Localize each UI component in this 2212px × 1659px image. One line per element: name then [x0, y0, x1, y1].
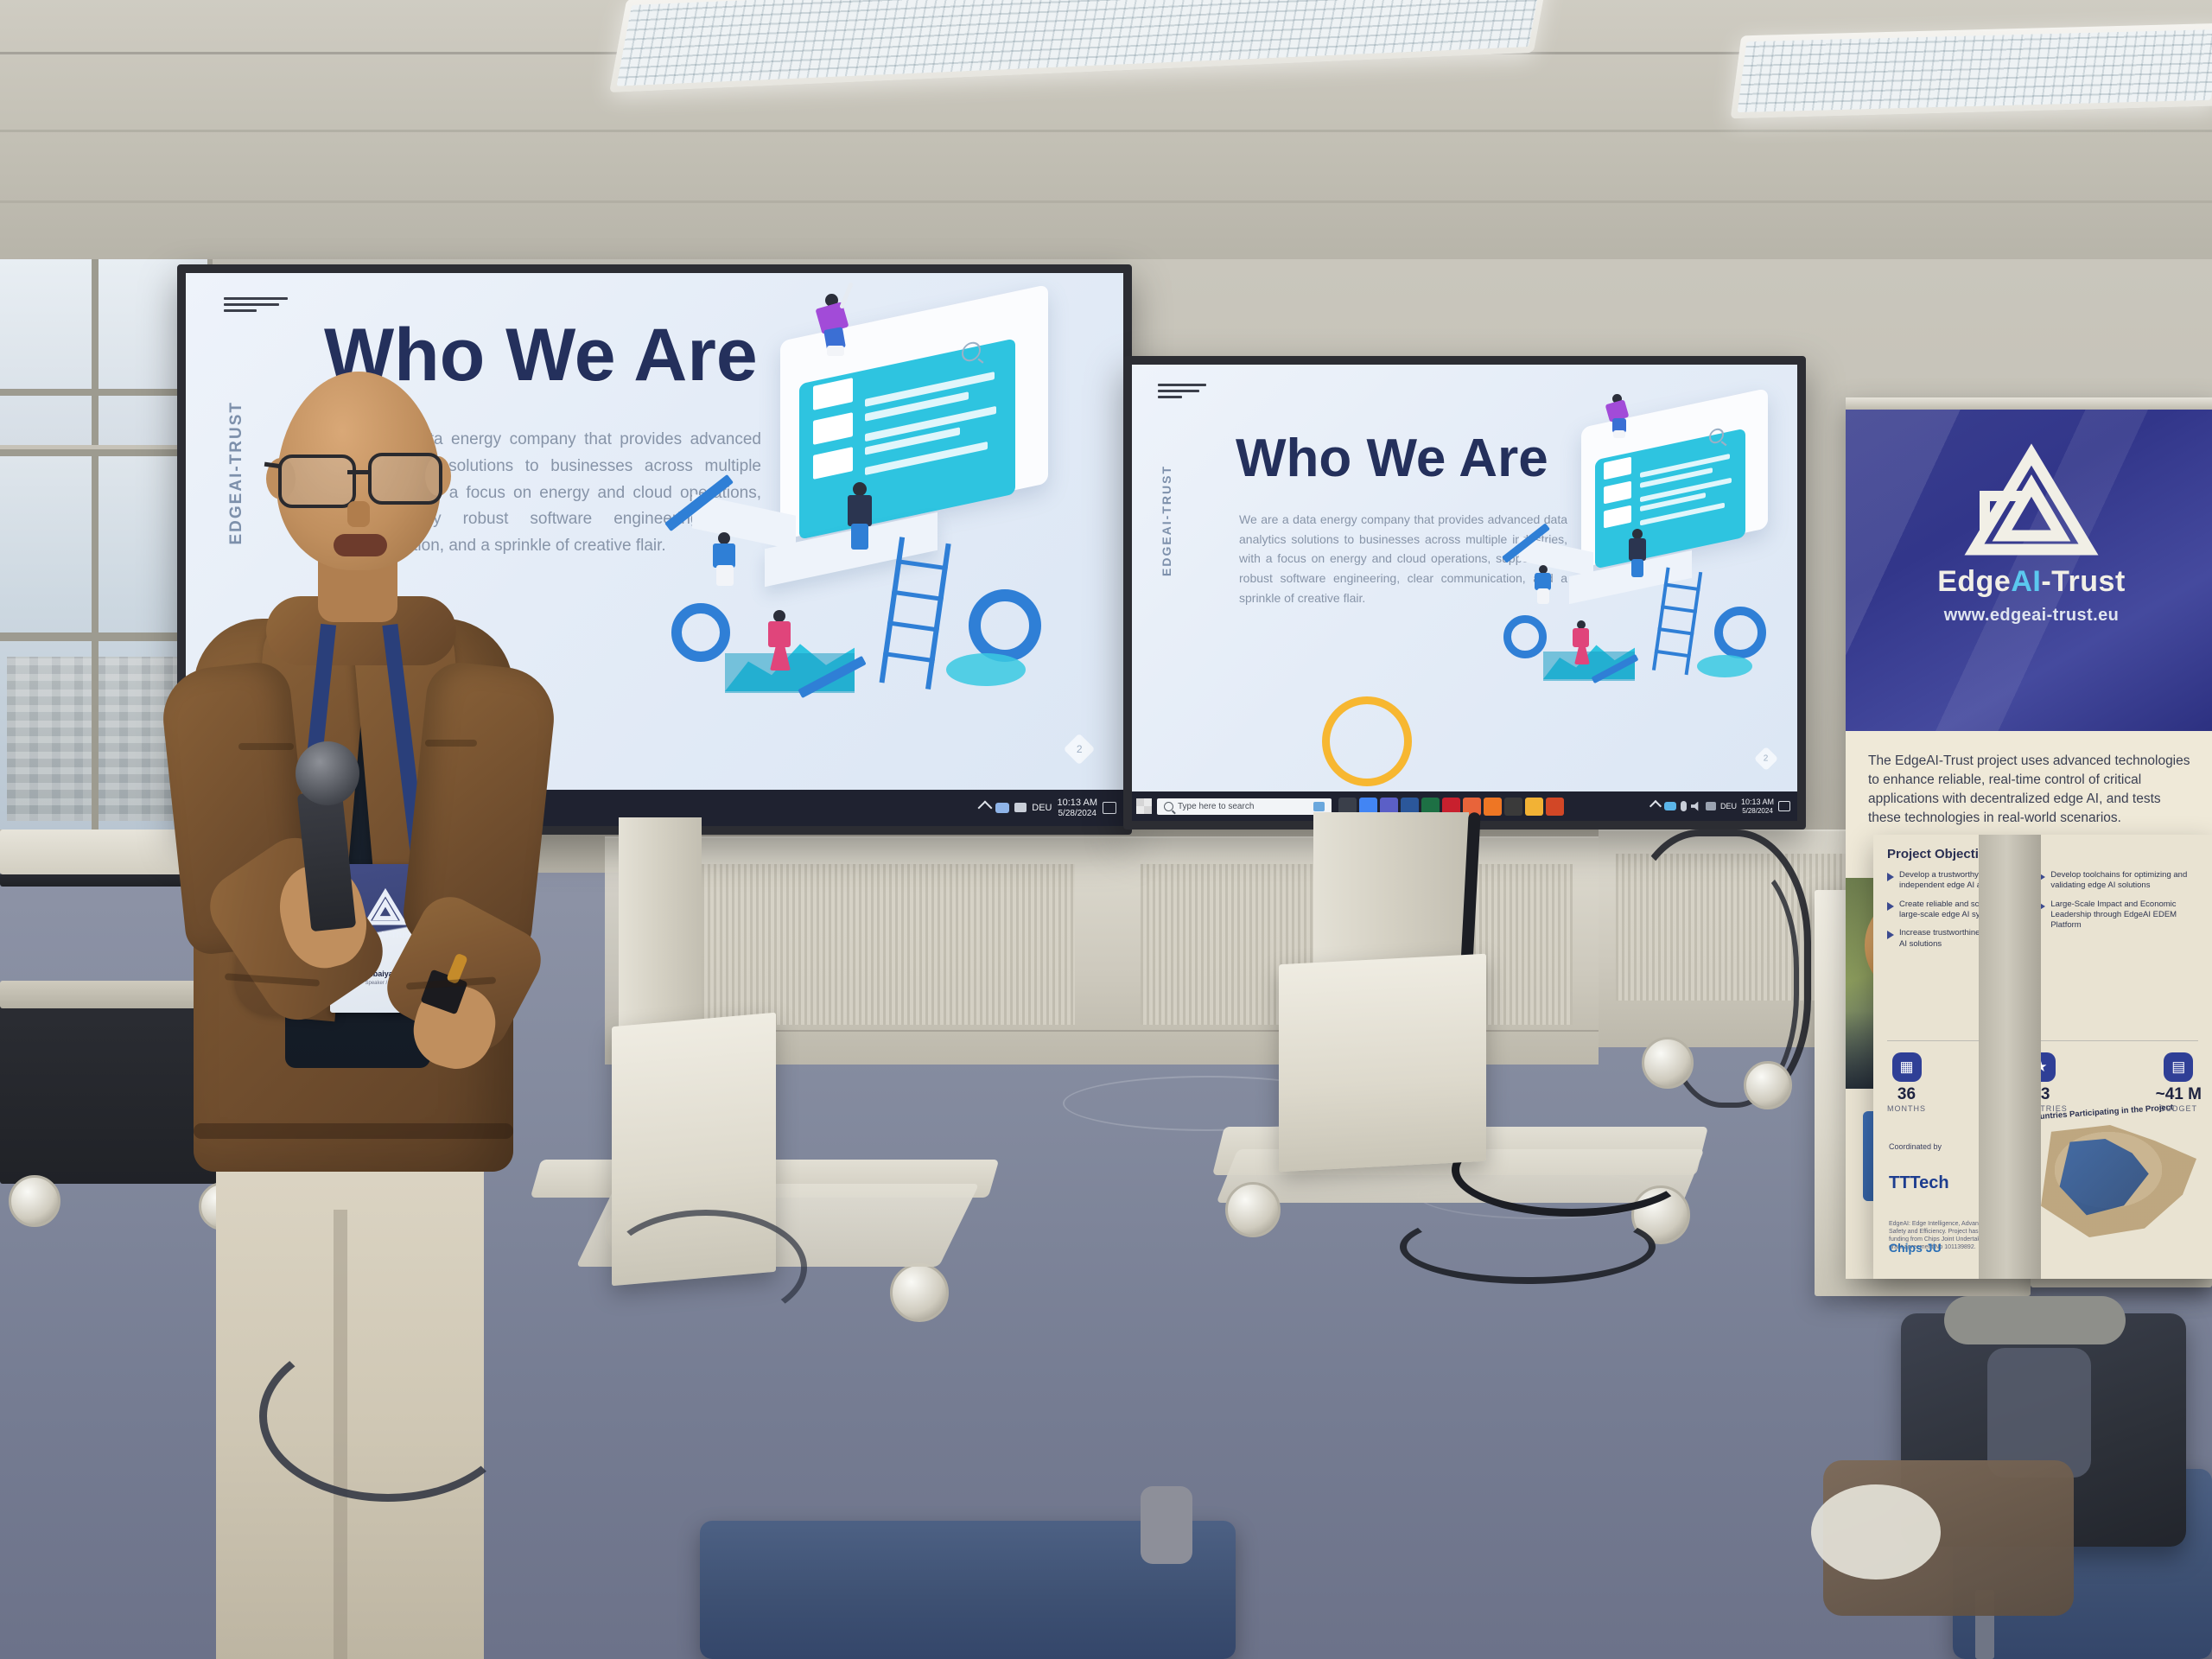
cable-loop: [1452, 1123, 1692, 1217]
microphone-head: [296, 741, 359, 805]
glasses-lens-left: [278, 454, 356, 508]
chevron-up-icon[interactable]: [978, 800, 993, 815]
keyboard-language-right[interactable]: DEU: [1720, 802, 1737, 810]
banner-url: www.edgeai-trust.eu: [1944, 606, 2119, 626]
clock-right[interactable]: 10:13 AM 5/28/2024: [1741, 798, 1774, 815]
speaker-nose: [347, 501, 370, 527]
speaker-mouth: [334, 534, 387, 556]
jacket-chest-pocket: [425, 740, 477, 747]
stat-months: ▦36MONTHS: [1887, 1052, 1926, 1113]
occluding-column: [1979, 835, 2041, 1279]
cloud-icon[interactable]: [995, 803, 1009, 813]
illustration-person-blue: [708, 532, 746, 589]
volume-icon[interactable]: [1691, 802, 1701, 811]
taskbar-icon-outlook[interactable]: [1484, 798, 1502, 816]
objectives-heading: Project Objectives: [1887, 847, 2198, 861]
chair-armrest: [1141, 1486, 1192, 1564]
illustration-oval: [946, 653, 1026, 686]
illustration-person-red: [763, 610, 801, 672]
ceiling-light-panel: [1731, 23, 2212, 119]
ceiling-seam: [0, 130, 2212, 132]
slide-logo-mark: [1158, 384, 1206, 398]
illustration-person-top: [813, 294, 855, 358]
backpack-handle: [1944, 1296, 2126, 1344]
glasses-lens-right: [368, 453, 442, 505]
notification-icon[interactable]: [1103, 802, 1116, 814]
edgeai-trust-logo-icon: [1959, 441, 2104, 562]
floor-cable-loop: [259, 1331, 517, 1502]
stand-caster: [890, 1263, 949, 1322]
slide-logo-mark: [224, 297, 288, 312]
slide-vertical-label: EDGEAI-TRUST: [1160, 465, 1173, 576]
glasses-bridge: [347, 470, 372, 474]
rollup-banner-objectives: Project Objectives Develop a trustworthy…: [1873, 835, 2212, 1279]
stand-caster: [1225, 1182, 1281, 1237]
calendar-icon: ▦: [1892, 1052, 1922, 1082]
taskbar-icon-powerpoint[interactable]: [1546, 798, 1564, 816]
illustration-gear: [671, 603, 730, 662]
display-screen-right[interactable]: EDGEAI-TRUST Who We Are We are a data en…: [1123, 356, 1806, 829]
coordinator-label: Coordinated by: [1889, 1142, 1942, 1151]
objectives-list-right: Develop toolchains for optimizing and va…: [2038, 870, 2198, 957]
keyboard-language-left[interactable]: DEU: [1032, 803, 1052, 813]
backpack-strap: [1987, 1348, 2091, 1478]
bullet-triangle-icon: [1887, 873, 1894, 881]
coordinator-name: TTTech: [1889, 1173, 1949, 1193]
jacket-chest-pocket: [238, 743, 294, 750]
objective-item: Large-Scale Impact and Economic Leadersh…: [2038, 899, 2198, 931]
slide-page-indicator: 2: [1754, 747, 1778, 771]
cart-caster: [1642, 1037, 1694, 1089]
notification-icon[interactable]: [1778, 801, 1790, 811]
bullet-triangle-icon: [1887, 931, 1894, 939]
slide-illustration-left: [670, 282, 1119, 766]
jacket-hem: [194, 1123, 513, 1139]
white-stool: [1811, 1484, 1941, 1580]
bullet-triangle-icon: [1887, 902, 1894, 911]
ceiling-seam: [0, 200, 2212, 203]
start-button-icon[interactable]: [1136, 798, 1152, 814]
slide-accent-ring: [1322, 696, 1412, 786]
conference-room-photo: EDGEAI-TRUST Who We Are We are a data en…: [0, 0, 2212, 1659]
objective-text: Develop toolchains for optimizing and va…: [2050, 870, 2198, 892]
clock-left[interactable]: 10:13 AM 5/28/2024: [1058, 798, 1097, 818]
desk-caster: [9, 1175, 60, 1227]
cart-caster: [1744, 1061, 1792, 1109]
objective-text: Large-Scale Impact and Economic Leadersh…: [2050, 899, 2198, 931]
floor-cable-loop: [1400, 1210, 1656, 1284]
stat-caption: MONTHS: [1887, 1104, 1926, 1113]
funder-name: Chips JU: [1889, 1241, 1942, 1255]
cloud-icon[interactable]: [1664, 802, 1676, 810]
network-icon[interactable]: [1706, 802, 1716, 810]
objective-item: Develop toolchains for optimizing and va…: [2038, 870, 2198, 892]
illustration-person-platform: [839, 482, 887, 551]
banner-logo-block: EdgeAI-Trust www.edgeai-trust.eu: [1846, 441, 2212, 626]
cortana-icon[interactable]: [1313, 802, 1325, 811]
taskbar-icon-explorer[interactable]: [1525, 798, 1543, 816]
search-input[interactable]: Type here to search: [1157, 798, 1332, 815]
stand-shroud: [1279, 954, 1486, 1173]
taskbar-icon-settings[interactable]: [1504, 798, 1522, 816]
search-icon: [1164, 802, 1173, 811]
money-icon: ▤: [2164, 1052, 2193, 1082]
stat-value: ~41 M: [2156, 1085, 2202, 1104]
slide-illustration-right: [1503, 387, 1806, 733]
banner-description: The EdgeAI-Trust project uses advanced t…: [1846, 731, 2212, 849]
illustration-gear: [969, 589, 1041, 662]
stat-value: 36: [1897, 1085, 1916, 1104]
microphone-icon[interactable]: [1681, 801, 1687, 811]
banner-brand-name: EdgeAI-Trust: [1937, 565, 2126, 599]
chevron-up-icon[interactable]: [1649, 800, 1662, 812]
floor-cable-loop: [605, 1210, 807, 1325]
slide-canvas-right: EDGEAI-TRUST Who We Are We are a data en…: [1132, 365, 1797, 821]
folder-icon[interactable]: [1014, 803, 1027, 812]
slide-title-right: Who We Are: [1236, 432, 1548, 486]
search-placeholder: Type here to search: [1178, 802, 1254, 811]
